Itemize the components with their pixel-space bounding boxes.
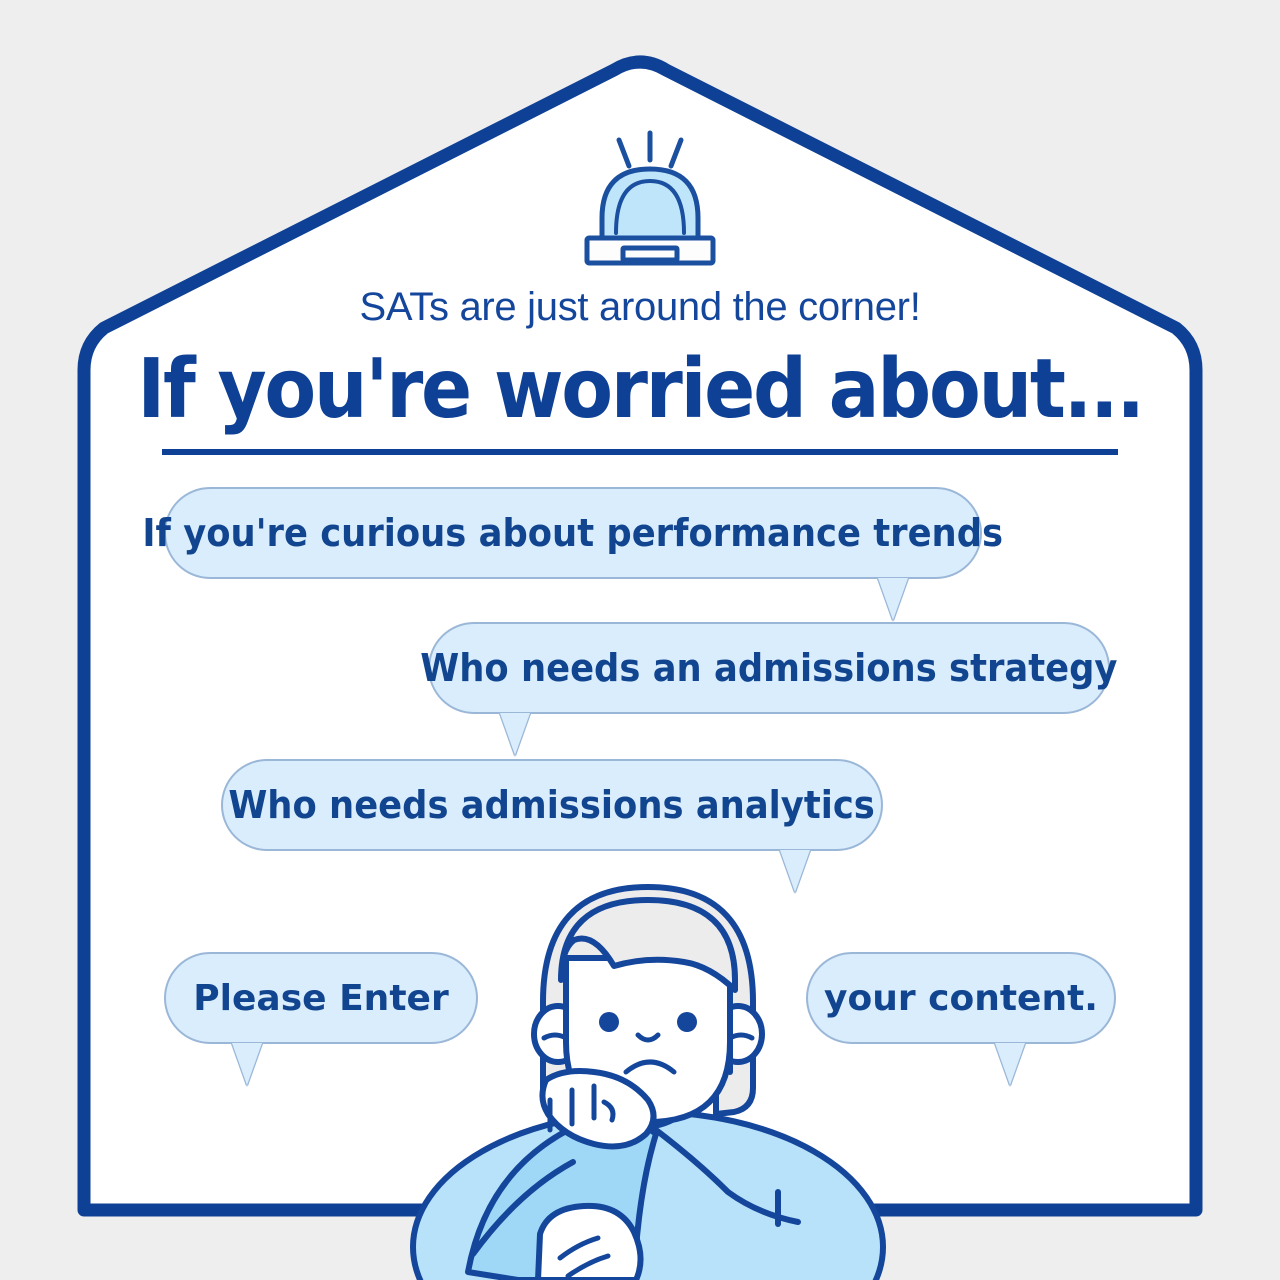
speech-bubble-admissions-strategy[interactable]: Who needs an admissions strategy [428,622,1110,714]
speech-bubble-tail [500,713,530,755]
speech-bubble-tail [232,1043,262,1085]
worried-girl-thinking-illustration [398,862,898,1280]
siren-alert-icon [575,128,725,273]
subtitle-text: SATs are just around the corner! [359,285,920,329]
page-title-text: If you're worried about... [137,342,1143,437]
title-divider [162,449,1118,455]
page-title: If you're worried about... [51,340,1229,440]
speech-bubble-text: Who needs an admissions strategy [420,646,1117,690]
speech-bubble-tail [878,578,908,620]
speech-bubble-tail [995,1043,1025,1085]
speech-bubble-text: If you're curious about performance tren… [143,511,1004,555]
subtitle: SATs are just around the corner! [0,281,1280,333]
speech-bubble-text: Who needs admissions analytics [229,783,875,827]
speech-bubble-performance-trends[interactable]: If you're curious about performance tren… [164,487,982,579]
speech-bubble-admissions-analytics[interactable]: Who needs admissions analytics [221,759,883,851]
poster-canvas: SATs are just around the corner! If you'… [0,0,1280,1280]
